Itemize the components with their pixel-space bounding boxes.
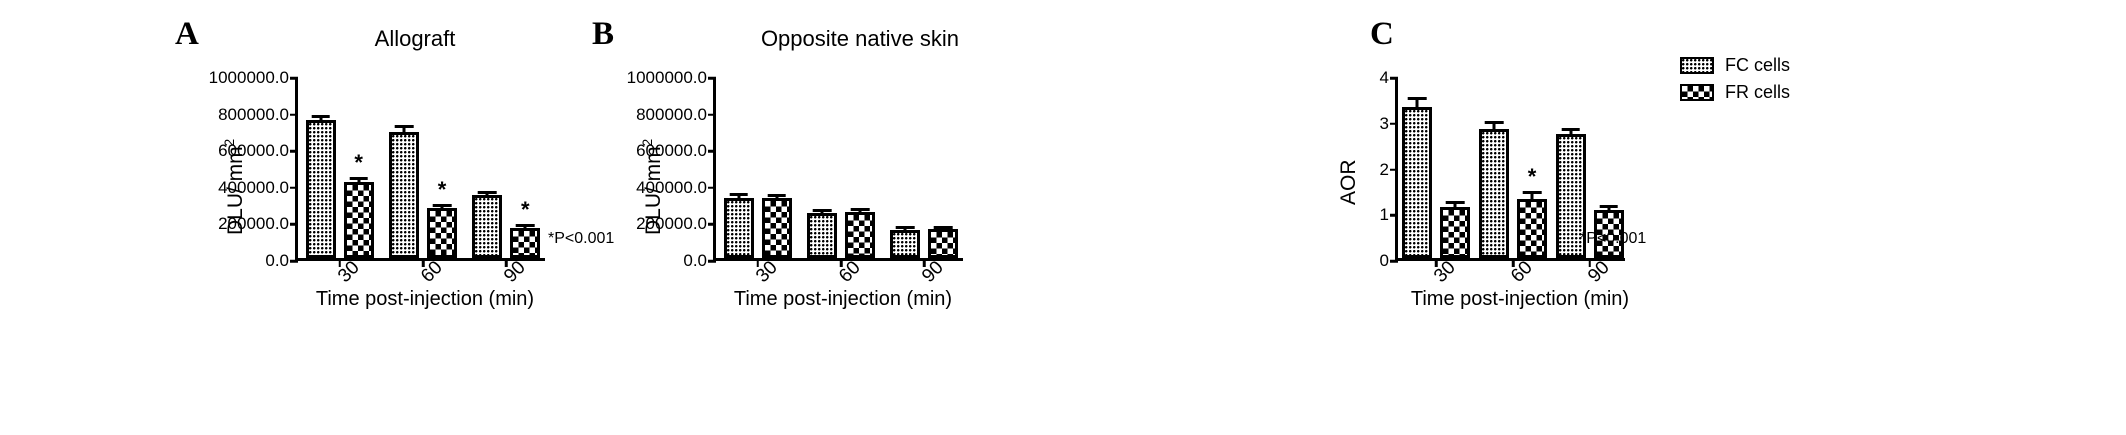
y-tick-label: 0.0 bbox=[265, 251, 298, 271]
y-tick-label: 200000.0 bbox=[636, 214, 716, 234]
error-bar-cap bbox=[516, 224, 535, 227]
y-tick-label: 0 bbox=[1380, 251, 1398, 271]
error-bar-cap bbox=[1408, 97, 1427, 100]
bar-fr-60 bbox=[427, 208, 457, 258]
error-bar-cap bbox=[896, 226, 915, 229]
error-bar bbox=[1607, 208, 1610, 210]
bar-fr-30 bbox=[1440, 207, 1470, 258]
y-tick-group: 0.0200000.0400000.0600000.0800000.010000… bbox=[297, 78, 298, 261]
error-bar bbox=[403, 128, 406, 131]
error-bar-cap bbox=[1561, 128, 1580, 131]
y-tick-label: 0.0 bbox=[683, 251, 716, 271]
y-tick-label: 800000.0 bbox=[636, 105, 716, 125]
error-bar bbox=[1454, 204, 1457, 206]
panel-c: C AOR 012343060*90 *P<0.001 Time post-in… bbox=[1290, 0, 2126, 435]
y-tick-group: 0.0200000.0400000.0600000.0800000.010000… bbox=[715, 78, 716, 261]
error-bar-cap bbox=[349, 177, 368, 180]
error-bar bbox=[942, 229, 945, 230]
y-tick-label: 800000.0 bbox=[218, 105, 298, 125]
error-bar bbox=[441, 207, 444, 208]
error-bar-cap bbox=[729, 193, 748, 196]
error-bar bbox=[1569, 131, 1572, 135]
bar-fr-90 bbox=[510, 228, 540, 258]
error-bar bbox=[319, 118, 322, 120]
y-tick-label: 600000.0 bbox=[636, 141, 716, 161]
panel-b-plot-area: 0.0200000.0400000.0600000.0800000.010000… bbox=[713, 78, 963, 261]
bar-fc-30 bbox=[306, 120, 336, 258]
bar-fc-60 bbox=[807, 213, 837, 258]
significance-star: * bbox=[1528, 166, 1537, 188]
panel-a-letter: A bbox=[175, 18, 199, 51]
bar-fr-60 bbox=[1517, 199, 1547, 258]
panel-b: B Opposite native skin DLU/ mm2 0.020000… bbox=[580, 0, 1380, 435]
bar-fr-30 bbox=[344, 182, 374, 258]
panel-a-title: Allograft bbox=[285, 26, 545, 52]
legend-item-fr: FR cells bbox=[1680, 82, 1790, 103]
figure-canvas: A Allograft DLU/ mm2 0.0200000.0400000.0… bbox=[0, 0, 2126, 435]
panel-c-y-axis-label-text: AOR bbox=[1337, 159, 1360, 205]
y-tick-label: 3 bbox=[1380, 114, 1398, 134]
error-bar-cap bbox=[813, 209, 832, 212]
error-bar bbox=[357, 180, 360, 181]
error-bar bbox=[1531, 194, 1534, 199]
error-bar bbox=[1416, 100, 1419, 107]
panel-c-letter: C bbox=[1370, 18, 1394, 51]
y-tick-label: 4 bbox=[1380, 68, 1398, 88]
bar-fc-30 bbox=[1402, 107, 1432, 258]
legend-swatch-fc-icon bbox=[1680, 57, 1714, 74]
panel-b-title: Opposite native skin bbox=[680, 26, 1040, 52]
bar-fc-60 bbox=[389, 132, 419, 258]
y-tick-label: 200000.0 bbox=[218, 214, 298, 234]
y-tick-label: 600000.0 bbox=[218, 141, 298, 161]
error-bar bbox=[737, 196, 740, 197]
error-bar-cap bbox=[934, 226, 953, 229]
error-bar-cap bbox=[1523, 191, 1542, 194]
error-bar bbox=[1493, 124, 1496, 129]
error-bar bbox=[486, 194, 489, 195]
y-tick-group: 01234 bbox=[1397, 78, 1398, 261]
panel-b-x-axis-title: Time post-injection (min) bbox=[693, 288, 993, 311]
error-bar bbox=[821, 212, 824, 213]
legend-label-fr: FR cells bbox=[1725, 82, 1790, 103]
error-bar-cap bbox=[395, 125, 414, 128]
y-tick-label: 1000000.0 bbox=[209, 68, 298, 88]
panel-a-x-axis-title: Time post-injection (min) bbox=[275, 288, 575, 311]
legend: FC cells FR cells bbox=[1680, 55, 1790, 109]
bar-fr-30 bbox=[762, 198, 792, 258]
error-bar-cap bbox=[1599, 205, 1618, 208]
y-tick-label: 1 bbox=[1380, 205, 1398, 225]
bar-fc-30 bbox=[724, 198, 754, 258]
error-bar-cap bbox=[1485, 121, 1504, 124]
y-tick-label: 1000000.0 bbox=[627, 68, 716, 88]
bar-fc-90 bbox=[472, 195, 502, 258]
panel-c-y-axis-label: AOR bbox=[1335, 159, 1361, 205]
bar-fr-90 bbox=[928, 229, 958, 258]
significance-star: * bbox=[438, 179, 447, 201]
significance-star: * bbox=[521, 199, 530, 221]
panel-a-plot-area: 0.0200000.0400000.0600000.0800000.010000… bbox=[295, 78, 545, 261]
panel-c-pvalue-note: *P<0.001 bbox=[1580, 230, 1646, 248]
error-bar-cap bbox=[767, 194, 786, 197]
error-bar bbox=[775, 197, 778, 198]
error-bar-cap bbox=[851, 208, 870, 211]
error-bar-cap bbox=[1446, 201, 1465, 204]
y-tick-label: 2 bbox=[1380, 160, 1398, 180]
bar-fr-60 bbox=[845, 212, 875, 258]
error-bar bbox=[859, 211, 862, 212]
panel-b-letter: B bbox=[592, 18, 614, 51]
error-bar-cap bbox=[311, 115, 330, 118]
error-bar bbox=[524, 227, 527, 228]
panel-c-x-axis-title: Time post-injection (min) bbox=[1370, 288, 1670, 311]
error-bar bbox=[904, 229, 907, 230]
legend-label-fc: FC cells bbox=[1725, 55, 1790, 76]
error-bar-cap bbox=[433, 204, 452, 207]
legend-swatch-fr-icon bbox=[1680, 84, 1714, 101]
error-bar-cap bbox=[478, 191, 497, 194]
y-tick-label: 400000.0 bbox=[636, 178, 716, 198]
bar-fc-90 bbox=[890, 230, 920, 258]
y-tick-label: 400000.0 bbox=[218, 178, 298, 198]
significance-star: * bbox=[354, 152, 363, 174]
bar-fc-60 bbox=[1479, 129, 1509, 258]
legend-item-fc: FC cells bbox=[1680, 55, 1790, 76]
